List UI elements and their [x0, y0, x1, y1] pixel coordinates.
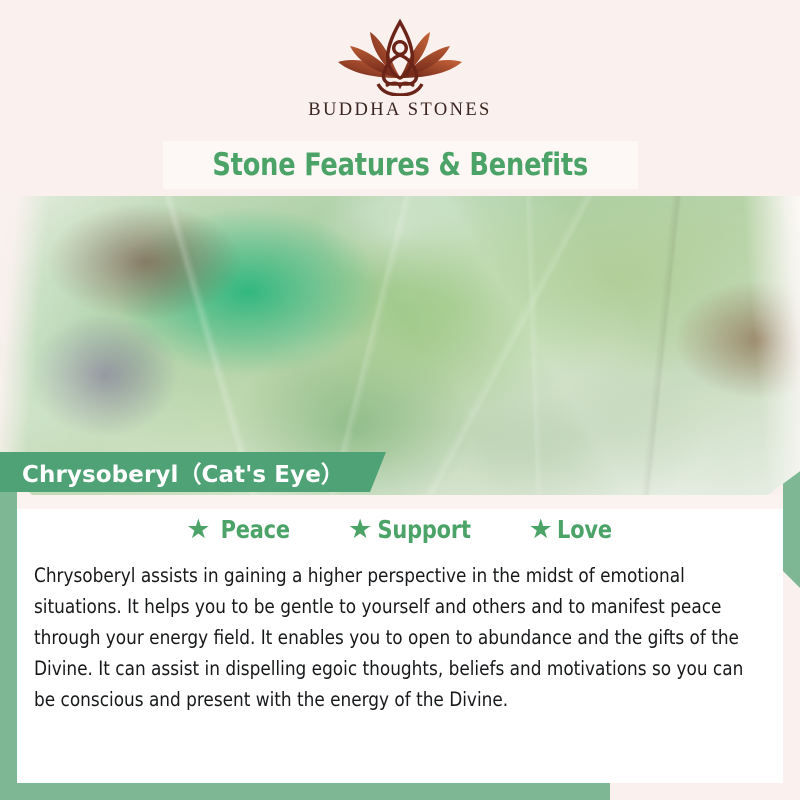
keyword-label: Support: [378, 515, 471, 544]
star-icon: ★: [529, 516, 553, 543]
frame-accent-bottom: [0, 783, 610, 800]
star-icon: ★: [186, 516, 210, 543]
keyword-item-support: ★ Support: [348, 515, 475, 544]
page-title: Stone Features & Benefits: [213, 147, 589, 183]
stone-name-label: Chrysoberyl（Cat's Eye）: [22, 455, 344, 489]
stone-photo-fade-left: [0, 196, 120, 495]
brand-name: BUDDHA STONES: [308, 100, 492, 121]
stone-name-banner: Chrysoberyl（Cat's Eye）: [0, 452, 386, 492]
stone-photo: [0, 196, 800, 495]
keyword-row: ★ Peace ★ Support ★ Love: [17, 515, 783, 544]
keyword-item-love: ★ Love: [529, 515, 614, 544]
keyword-label: Love: [557, 515, 612, 544]
content-top-strip: [17, 495, 783, 509]
star-icon: ★: [348, 516, 372, 543]
description-paragraph: Chrysoberyl assists in gaining a higher …: [34, 560, 748, 715]
title-banner: Stone Features & Benefits: [163, 141, 638, 189]
keyword-item-peace: ★ Peace: [186, 515, 292, 544]
lotus-meditation-icon: [316, 18, 484, 96]
keyword-label: Peace: [220, 515, 289, 544]
bottom-right-filler: [610, 783, 800, 800]
stone-photo-fade-right: [680, 196, 800, 495]
infographic-page: BUDDHA STONES Stone Features & Benefits …: [0, 0, 800, 800]
header: BUDDHA STONES Stone Features & Benefits: [0, 0, 800, 196]
brand-logo: BUDDHA STONES: [0, 18, 800, 138]
content-panel: ★ Peace ★ Support ★ Love Chrysoberyl ass…: [17, 495, 783, 783]
